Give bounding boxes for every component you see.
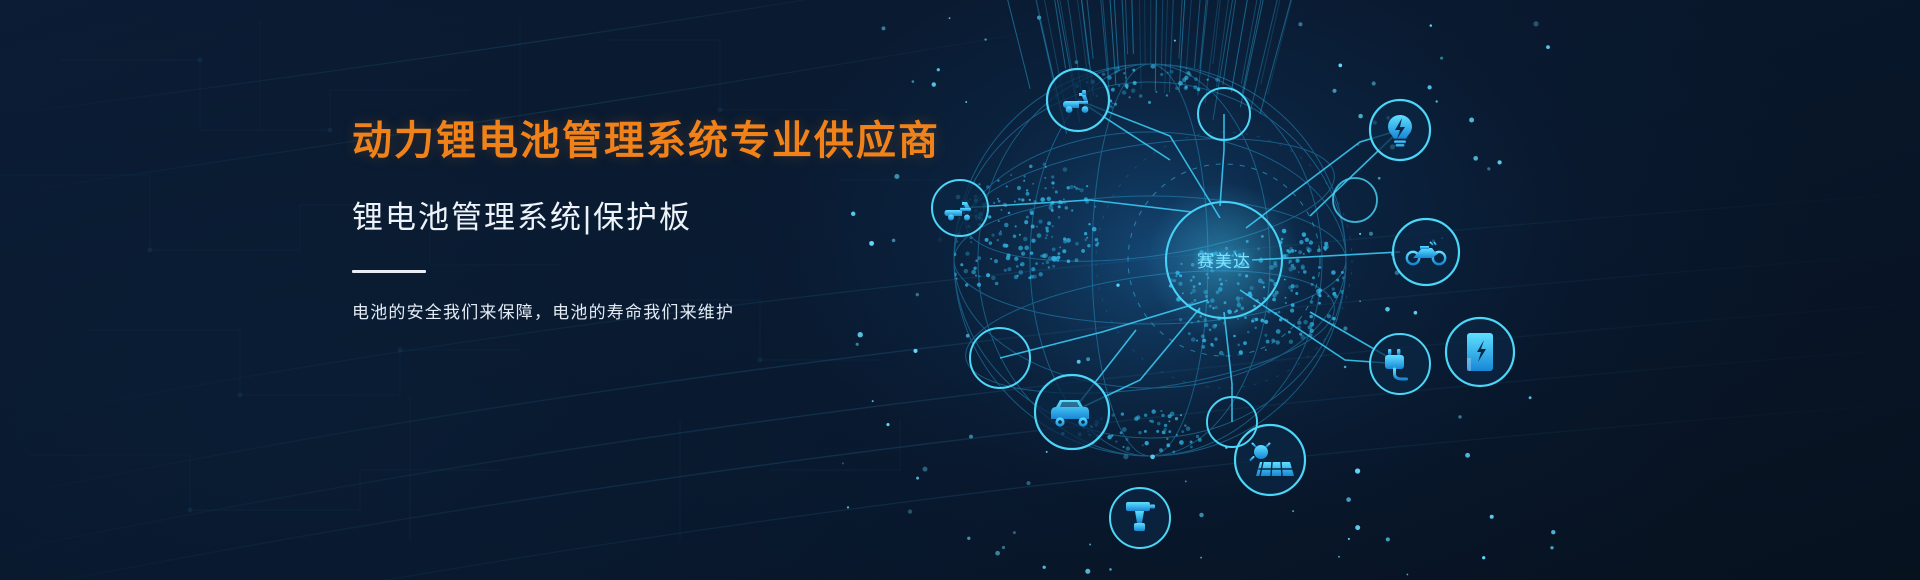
page-title: 动力锂电池管理系统专业供应商 (352, 118, 892, 165)
node-ebike[interactable] (932, 180, 988, 236)
page-subtitle: 锂电池管理系统|保护板 (352, 199, 892, 236)
node-bulb[interactable] (1370, 100, 1430, 160)
node-drill[interactable] (1110, 488, 1170, 548)
hub-node[interactable]: 赛美达 (1146, 182, 1302, 338)
node-motorbike[interactable] (1393, 219, 1459, 285)
hub-label: 赛美达 (1197, 251, 1251, 271)
node-powerbank[interactable] (1446, 318, 1514, 386)
node-solar[interactable] (1235, 425, 1305, 495)
node-plug[interactable] (1370, 334, 1430, 394)
page-tagline: 电池的安全我们来保障，电池的寿命我们来维护 (352, 301, 892, 325)
battery-pack-icon (1467, 333, 1493, 371)
node-scooter[interactable] (1047, 69, 1109, 131)
node-car[interactable] (1035, 375, 1109, 449)
hero-text-block: 动力锂电池管理系统专业供应商 锂电池管理系统|保护板 电池的安全我们来保障，电池… (352, 118, 892, 325)
hero-banner: 动力锂电池管理系统专业供应商 锂电池管理系统|保护板 电池的安全我们来保障，电池… (0, 0, 1920, 580)
network-globe-illustration: 赛美达 (840, 0, 1560, 580)
title-divider (352, 270, 426, 273)
